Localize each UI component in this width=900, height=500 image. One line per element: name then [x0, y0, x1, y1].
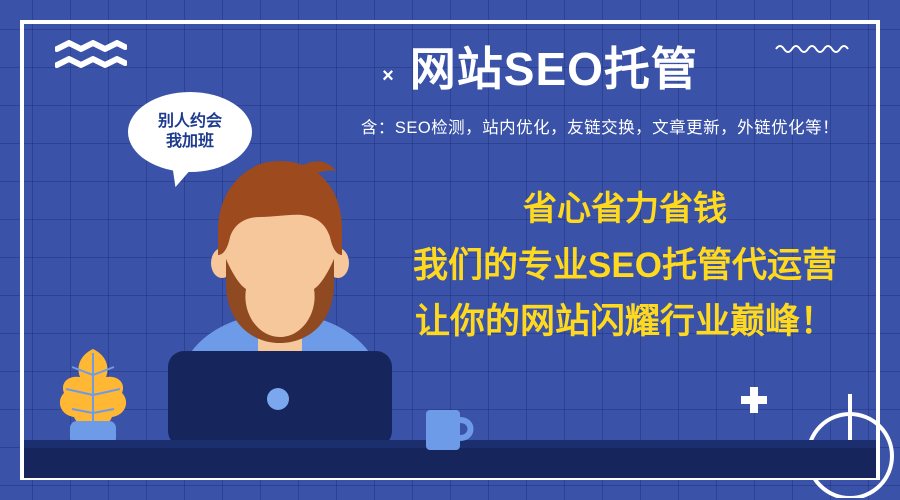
plant-illustration [48, 345, 138, 445]
wave-zigzag-icon [55, 40, 127, 74]
mouth [252, 298, 308, 316]
page-title: 网站SEO托管 [410, 44, 698, 95]
mug-handle [460, 420, 471, 438]
plus-sign-icon [741, 387, 767, 413]
laptop-logo [267, 388, 289, 410]
speech-bubble-line-2: 我加班 [166, 132, 214, 152]
speech-bubble-line-1: 别人约会 [158, 112, 222, 132]
title-bullet-icon: × [382, 52, 394, 86]
title-row: × 网站SEO托管 [330, 44, 750, 95]
slogan-line-3: 让你的网站闪耀行业巅峰！ [370, 304, 880, 341]
wave-line-icon [775, 42, 849, 56]
page-subtitle: 含：SEO检测，站内优化，友链交换，文章更新，外链优化等！ [320, 114, 880, 138]
slogan-line-1: 省心省力省钱 [370, 192, 880, 228]
mug-body [426, 410, 460, 450]
slogan-list: 省心省力省钱 我们的专业SEO托管代运营 让你的网站闪耀行业巅峰！ [370, 192, 880, 341]
slogan-line-2: 我们的专业SEO托管代运营 [370, 248, 880, 285]
coffee-mug [424, 408, 478, 452]
speech-bubble: 别人约会 我加班 [128, 92, 252, 172]
character-illustration [150, 155, 410, 445]
seo-promo-banner: 别人约会 我加班 × 网站SEO托管 含：SEO检测，站内优化，友链交换，文章更… [0, 0, 900, 500]
